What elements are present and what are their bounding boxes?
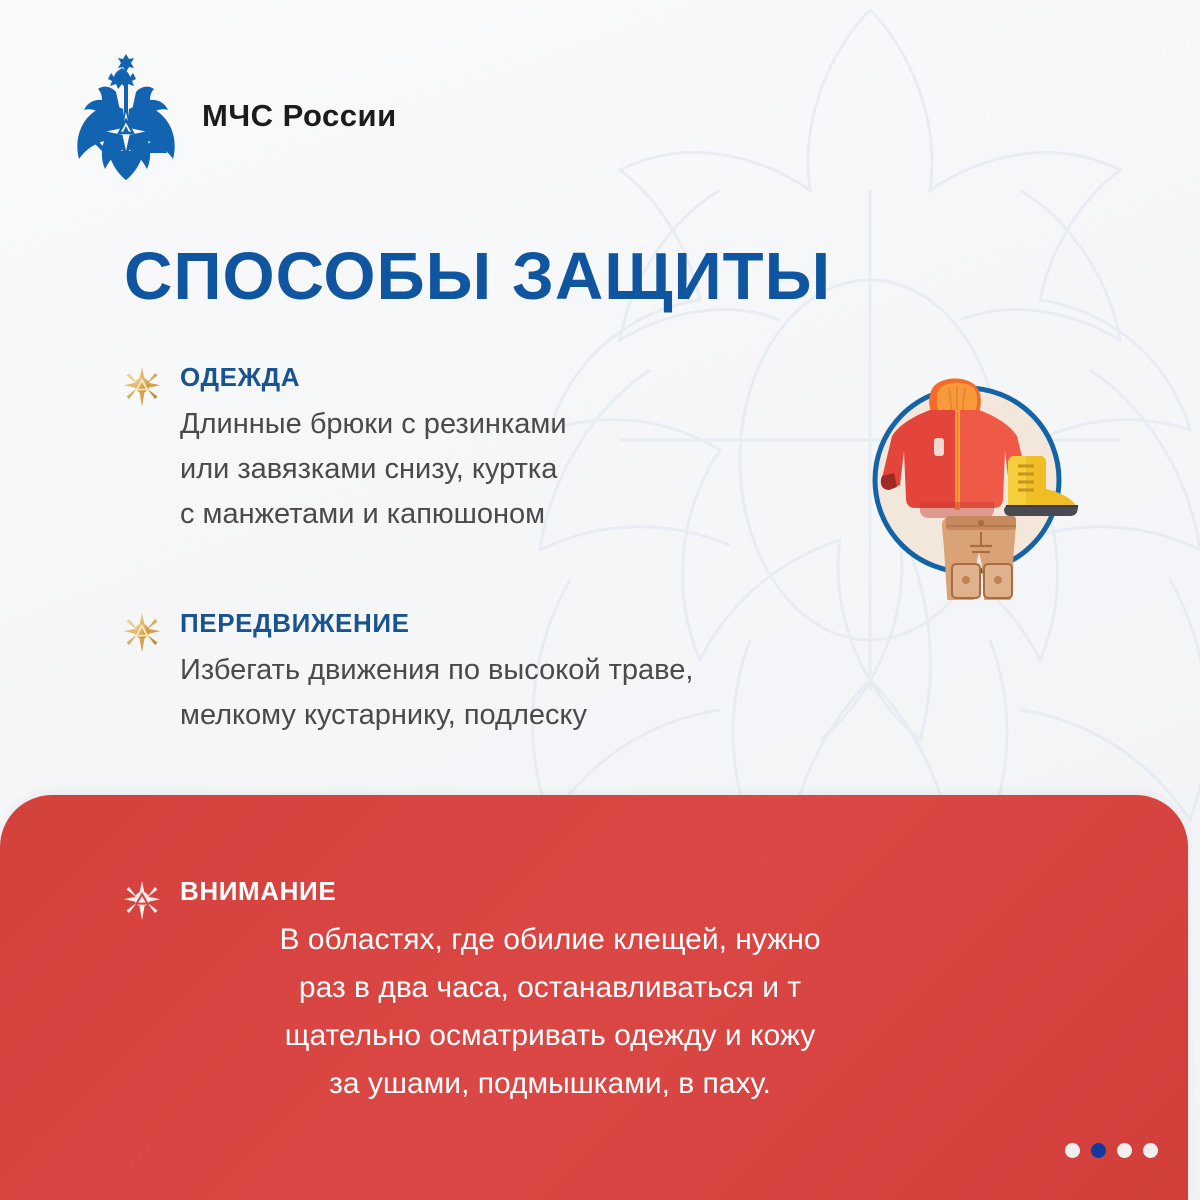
text-line: щательно осматривать одежду и кожу xyxy=(180,1012,920,1060)
text-line: раз в два часа, останавливаться и т xyxy=(180,964,920,1012)
mchs-eagle-emblem-icon xyxy=(72,52,180,180)
pagination-dot-3[interactable] xyxy=(1117,1143,1132,1158)
brand-name: МЧС России xyxy=(202,98,397,134)
text-line: мелкому кустарнику, подлеску xyxy=(180,693,880,738)
section-text: Избегать движения по высокой траве, мелк… xyxy=(180,648,880,738)
yellow-boot-icon xyxy=(1004,456,1078,516)
section-clothing: ОДЕЖДА Длинные брюки с резинками или зав… xyxy=(120,362,740,537)
compass-star-icon xyxy=(120,366,164,410)
pagination-dot-2[interactable] xyxy=(1091,1143,1106,1158)
section-text: Длинные брюки с резинками или завязками … xyxy=(180,402,740,537)
infographic-slide: МЧС России СПОСОБЫ ЗАЩИТЫ ОДЕЖДА Д xyxy=(0,0,1200,1200)
section-attention: ВНИМАНИЕ В областях, где обилие клещей, … xyxy=(120,876,920,1108)
section-heading: ПЕРЕДВИЖЕНИЕ xyxy=(180,608,880,639)
pagination-dot-4[interactable] xyxy=(1143,1143,1158,1158)
compass-star-icon xyxy=(120,612,164,656)
text-line: Длинные брюки с резинками xyxy=(180,402,740,447)
section-text: В областях, где обилие клещей, нужно раз… xyxy=(180,916,920,1108)
text-line: с манжетами и капюшоном xyxy=(180,492,740,537)
text-line: Избегать движения по высокой траве, xyxy=(180,648,880,693)
protective-clothing-illustration xyxy=(862,368,1078,600)
section-movement: ПЕРЕДВИЖЕНИЕ Избегать движения по высоко… xyxy=(120,608,880,738)
pagination-dot-1[interactable] xyxy=(1065,1143,1080,1158)
compass-star-icon xyxy=(120,880,164,924)
pagination[interactable] xyxy=(1065,1143,1158,1158)
text-line: или завязками снизу, куртка xyxy=(180,447,740,492)
text-line: В областях, где обилие клещей, нужно xyxy=(180,916,920,964)
section-heading: ВНИМАНИЕ xyxy=(180,876,920,907)
header: МЧС России xyxy=(72,52,397,180)
text-line: за ушами, подмышками, в паху. xyxy=(180,1060,920,1108)
page-title: СПОСОБЫ ЗАЩИТЫ xyxy=(124,238,831,315)
section-heading: ОДЕЖДА xyxy=(180,362,740,393)
